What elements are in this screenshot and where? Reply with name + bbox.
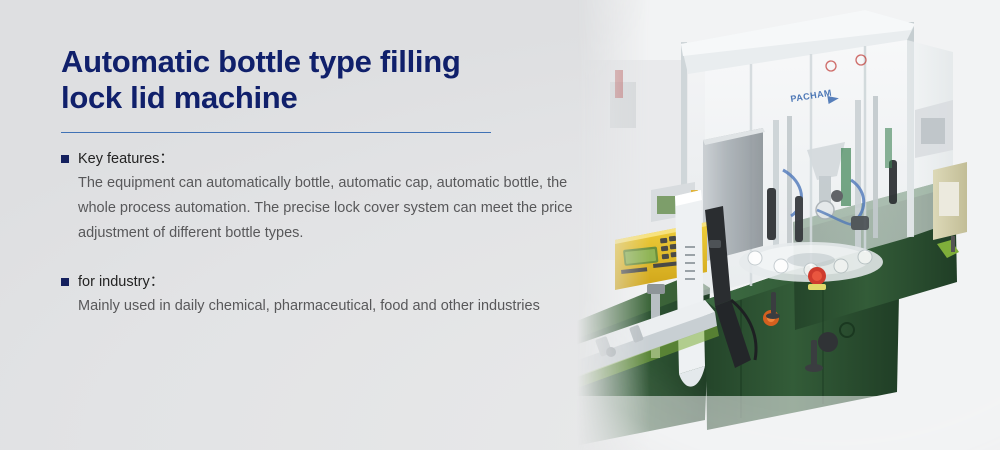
feature-heading: for industry：: [78, 273, 164, 291]
feature-heading: Key features：: [78, 150, 174, 168]
product-banner: Automatic bottle type filling lock lid m…: [0, 0, 1000, 450]
page-title: Automatic bottle type filling lock lid m…: [61, 44, 601, 116]
title-divider: [61, 132, 491, 133]
feature-heading-row: for industry：: [61, 273, 601, 291]
feature-block-for-industry: for industry： Mainly used in daily chemi…: [61, 273, 601, 319]
bottle-feed-column: [675, 190, 705, 387]
square-bullet-icon: [61, 278, 69, 286]
machine-photo-inner: PACHAM: [555, 0, 1000, 450]
machine-illustration: PACHAM: [555, 0, 1000, 450]
feature-body: The equipment can automatically bottle, …: [78, 171, 590, 246]
text-column: Automatic bottle type filling lock lid m…: [61, 44, 601, 319]
feature-block-key-features: Key features： The equipment can automati…: [61, 150, 601, 246]
square-bullet-icon: [61, 155, 69, 163]
feature-body: Mainly used in daily chemical, pharmaceu…: [78, 294, 590, 319]
machine-photo: PACHAM: [555, 0, 1000, 450]
feature-heading-row: Key features：: [61, 150, 601, 168]
